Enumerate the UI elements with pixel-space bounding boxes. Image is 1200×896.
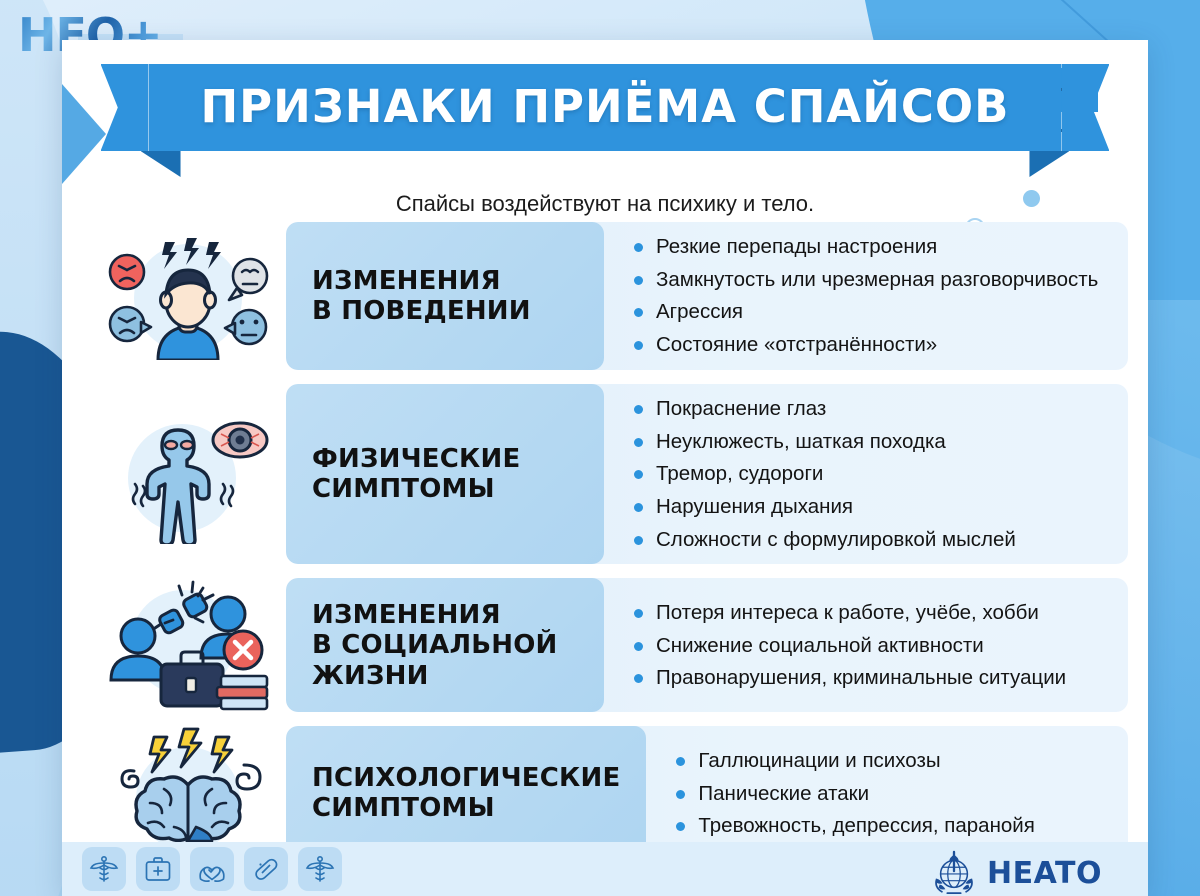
footer-org-name: HEATO [987,856,1102,891]
ribbon-fold-left [141,151,181,177]
poster-card: ПРИЗНАКИ ПРИЁМА СПАЙСОВ Спайсы воздейств… [62,40,1148,896]
section-label-line-2: В ПОВЕДЕНИИ [312,296,531,326]
who-emblem-icon [931,850,977,896]
section-body: ИЗМЕНЕНИЯ В СОЦИАЛЬНОЙ ЖИЗНИ Потеря инте… [286,578,1128,712]
ribbon-fold-right [1029,151,1069,177]
section-body: ФИЗИЧЕСКИЕ СИМПТОМЫ Покраснение глаз Неу… [286,384,1128,565]
list-item: Тревожность, депрессия, паранойя [676,811,1110,841]
list-item: Тремор, судороги [634,459,1110,489]
section-label-line-1: ИЗМЕНЕНИЯ [312,600,501,630]
page-title: ПРИЗНАКИ ПРИЁМА СПАЙСОВ [201,80,1010,133]
section-behavior-changes: ИЗМЕНЕНИЯ В ПОВЕДЕНИИ Резкие перепады на… [90,222,1128,370]
first-aid-kit-icon [136,847,180,891]
symptom-list: Галлюцинации и психозы Панические атаки … [646,726,1128,860]
list-item: Потеря интереса к работе, учёбе, хобби [634,598,1110,628]
list-item: Резкие перепады настроения [634,232,1110,262]
title-banner: ПРИЗНАКИ ПРИЁМА СПАЙСОВ [62,64,1148,151]
section-label-line-3: ЖИЗНИ [312,661,429,691]
section-label-line-1: ФИЗИЧЕСКИЕ [312,444,520,474]
brain-lightning-icon [90,726,286,860]
trembling-body-red-eye-icon [90,384,286,565]
caduceus-icon [298,847,342,891]
list-item: Панические атаки [676,779,1110,809]
section-label-line-1: ИЗМЕНЕНИЯ [312,266,501,296]
list-item: Сложности с формулировкой мыслей [634,525,1110,555]
ribbon-tail-left [101,64,149,151]
section-label: ПСИХОЛОГИЧЕСКИЕ СИМПТОМЫ [286,726,646,860]
symptom-list: Резкие перепады настроения Замкнутость и… [604,222,1128,370]
section-body: ИЗМЕНЕНИЯ В ПОВЕДЕНИИ Резкие перепады на… [286,222,1128,370]
section-label-line-2: СИМПТОМЫ [312,793,495,823]
list-item: Галлюцинации и психозы [676,746,1110,776]
sections-list: ИЗМЕНЕНИЯ В ПОВЕДЕНИИ Резкие перепады на… [90,222,1128,860]
infographic-poster: HEO+ ПРИЗНАКИ ПРИЁМА СПАЙСОВ Спайсы возд… [0,0,1200,896]
pill-capsule-icon [244,847,288,891]
caduceus-icon [82,847,126,891]
section-social-life-changes: ИЗМЕНЕНИЯ В СОЦИАЛЬНОЙ ЖИЗНИ Потеря инте… [90,578,1128,712]
section-psychological-symptoms: ПСИХОЛОГИЧЕСКИЕ СИМПТОМЫ Галлюцинации и … [90,726,1128,860]
section-label: ИЗМЕНЕНИЯ В ПОВЕДЕНИИ [286,222,604,370]
symptom-list: Покраснение глаз Неуклюжесть, шаткая пох… [604,384,1128,565]
section-label: ФИЗИЧЕСКИЕ СИМПТОМЫ [286,384,604,565]
section-label-line-1: ПСИХОЛОГИЧЕСКИЕ [312,763,620,793]
heart-in-hands-icon [190,847,234,891]
section-label-line-2: В СОЦИАЛЬНОЙ [312,630,558,660]
list-item: Замкнутость или чрезмерная разговорчивос… [634,265,1110,295]
footer-organization: HEATO [931,850,1102,896]
section-label: ИЗМЕНЕНИЯ В СОЦИАЛЬНОЙ ЖИЗНИ [286,578,604,712]
ribbon-tail-right [1061,64,1109,151]
section-body: ПСИХОЛОГИЧЕСКИЕ СИМПТОМЫ Галлюцинации и … [286,726,1128,860]
broken-social-link-briefcase-icon [90,578,286,712]
section-label-line-2: СИМПТОМЫ [312,474,495,504]
footer-icon-strip [62,847,342,891]
section-physical-symptoms: ФИЗИЧЕСКИЕ СИМПТОМЫ Покраснение глаз Неу… [90,384,1128,565]
list-item: Покраснение глаз [634,394,1110,424]
list-item: Агрессия [634,297,1110,327]
mood-swings-person-icon [90,222,286,370]
ribbon: ПРИЗНАКИ ПРИЁМА СПАЙСОВ [149,64,1062,151]
subtitle-line-1: Спайсы воздействуют на психику и тело. [62,188,1148,219]
list-item: Состояние «отстранённости» [634,330,1110,360]
footer-bar: HEATO [62,842,1148,896]
list-item: Правонарушения, криминальные ситуации [634,663,1110,693]
symptom-list: Потеря интереса к работе, учёбе, хобби С… [604,578,1128,712]
list-item: Неуклюжесть, шаткая походка [634,427,1110,457]
list-item: Снижение социальной активности [634,631,1110,661]
list-item: Нарушения дыхания [634,492,1110,522]
